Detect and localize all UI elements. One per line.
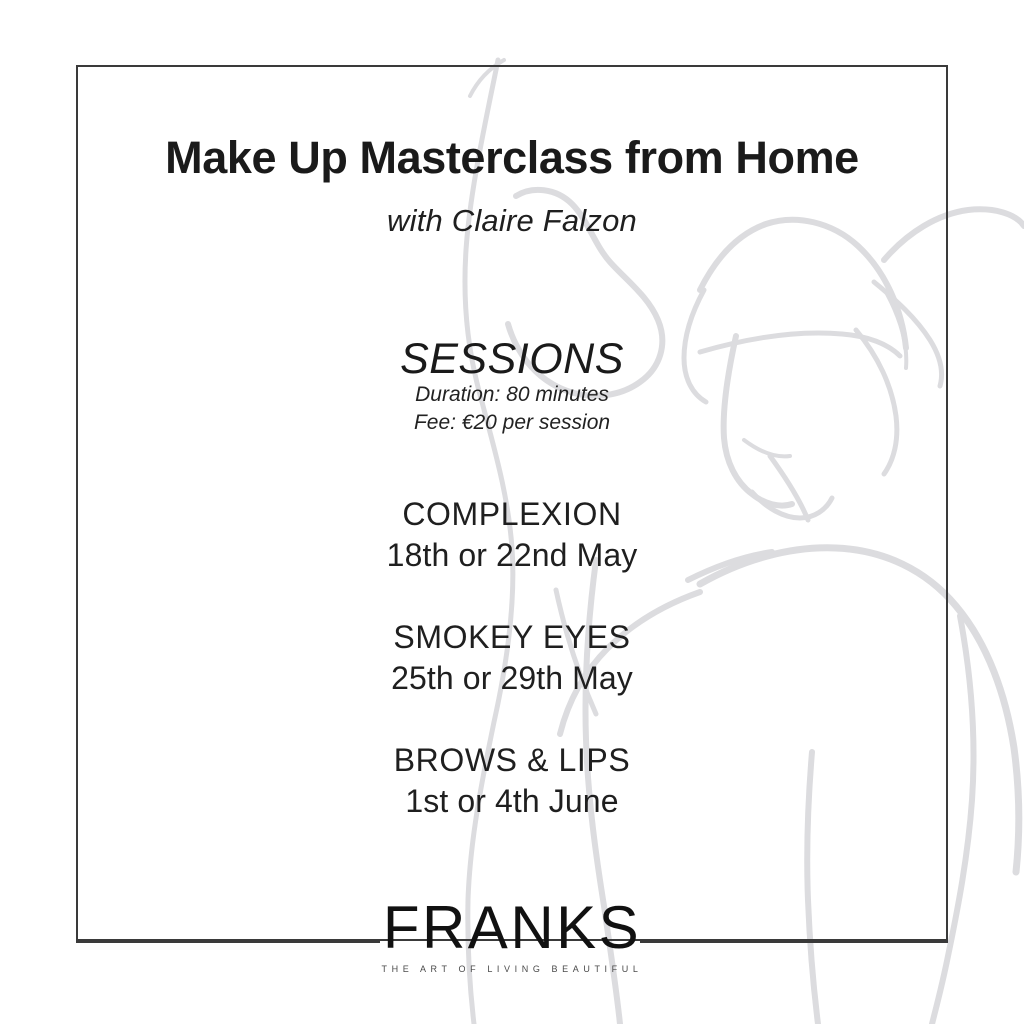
session-dates: 25th or 29th May bbox=[0, 658, 1024, 699]
poster-canvas: Make Up Masterclass from Home with Clair… bbox=[0, 0, 1024, 1024]
session-item: COMPLEXION 18th or 22nd May bbox=[0, 494, 1024, 576]
session-name: SMOKEY EYES bbox=[0, 617, 1024, 658]
session-name: COMPLEXION bbox=[0, 494, 1024, 535]
session-dates: 18th or 22nd May bbox=[0, 535, 1024, 576]
poster-content: Make Up Masterclass from Home with Clair… bbox=[0, 0, 1024, 1024]
session-item: BROWS & LIPS 1st or 4th June bbox=[0, 740, 1024, 822]
sessions-duration: Duration: 80 minutes bbox=[0, 383, 1024, 407]
sessions-heading: SESSIONS bbox=[0, 335, 1024, 384]
session-name: BROWS & LIPS bbox=[0, 740, 1024, 781]
brand-tagline: THE ART OF LIVING BEAUTIFUL bbox=[76, 964, 948, 974]
footer: FRANKS THE ART OF LIVING BEAUTIFUL bbox=[76, 898, 948, 988]
brand-wordmark: FRANKS bbox=[76, 898, 948, 958]
brand-logo: FRANKS THE ART OF LIVING BEAUTIFUL bbox=[76, 898, 948, 974]
sessions-fee: Fee: €20 per session bbox=[0, 411, 1024, 435]
page-title: Make Up Masterclass from Home bbox=[0, 134, 1024, 181]
session-dates: 1st or 4th June bbox=[0, 781, 1024, 822]
page-subtitle: with Claire Falzon bbox=[0, 203, 1024, 239]
session-item: SMOKEY EYES 25th or 29th May bbox=[0, 617, 1024, 699]
